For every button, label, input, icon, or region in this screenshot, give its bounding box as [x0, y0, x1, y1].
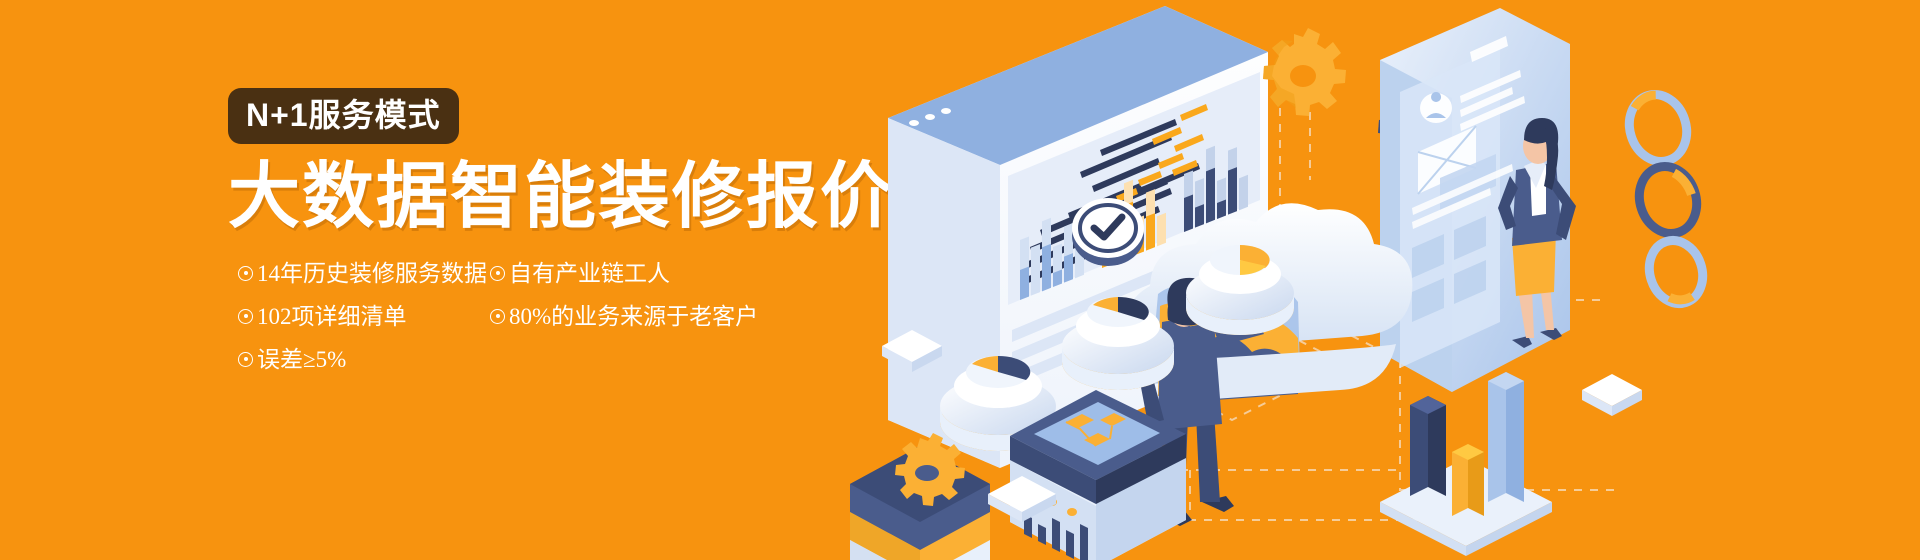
feature-item: 14年历史装修服务数据 [238, 262, 528, 285]
bar-chart-3d [1380, 372, 1552, 556]
circle-dot-icon [490, 309, 505, 324]
feature-item: 自有产业链工人 [490, 262, 890, 285]
feature-label: 自有产业链工人 [509, 262, 670, 285]
feature-item: 80%的业务来源于老客户 [490, 305, 890, 328]
circle-dot-icon [490, 266, 505, 281]
feature-label: 102项详细清单 [257, 305, 407, 328]
feature-label: 80%的业务来源于老客户 [509, 305, 758, 328]
feature-item: 102项详细清单 [238, 305, 528, 328]
service-model-badge: N+1服务模式 [228, 88, 459, 144]
circle-dot-icon [238, 266, 253, 281]
gear-orange [1263, 28, 1346, 116]
ring-shapes [1621, 87, 1711, 310]
feature-column-left: 14年历史装修服务数据 102项详细清单 误差≥5% [238, 262, 528, 391]
feature-label: 误差≥5% [257, 348, 346, 371]
circle-dot-icon [238, 352, 253, 367]
feature-column-right: 自有产业链工人 80%的业务来源于老客户 [490, 262, 890, 348]
promo-banner: N+1服务模式 大数据智能装修报价 14年历史装修服务数据 102项详细清单 误… [0, 0, 1920, 560]
checkmark-badge [1072, 198, 1144, 266]
feature-item: 误差≥5% [238, 348, 528, 371]
big-data-illustration [840, 0, 1920, 560]
feature-label: 14年历史装修服务数据 [257, 262, 487, 285]
circle-dot-icon [238, 309, 253, 324]
